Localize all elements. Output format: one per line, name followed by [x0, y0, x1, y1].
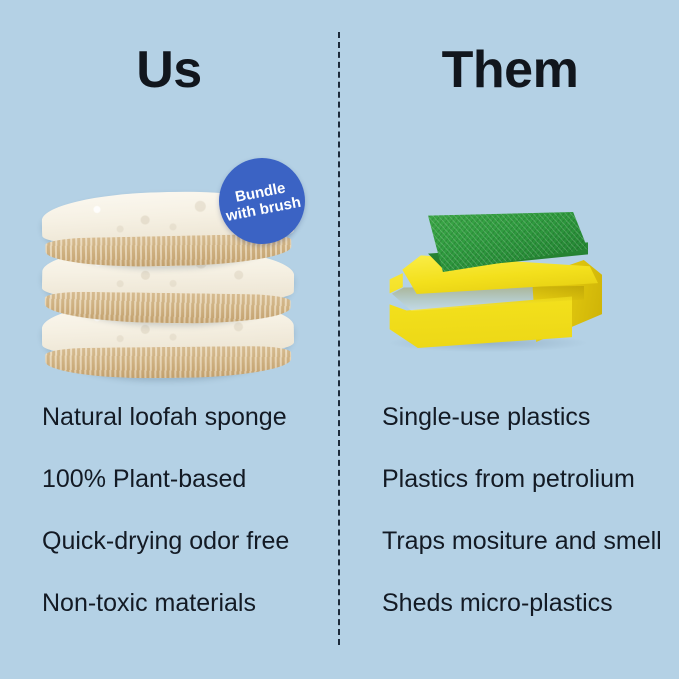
column-heading-us: Us: [0, 44, 338, 96]
plastic-sponge-image: [384, 212, 602, 348]
feature-item: Plastics from petrolium: [382, 464, 679, 526]
feature-item: Sheds micro-plastics: [382, 588, 679, 650]
bundle-with-brush-badge: Bundle with brush: [219, 158, 305, 244]
feature-item: Natural loofah sponge: [42, 402, 352, 464]
column-heading-them: Them: [341, 44, 679, 96]
feature-item: Quick-drying odor free: [42, 526, 352, 588]
bundle-badge-label: Bundle with brush: [222, 177, 303, 225]
feature-item: Traps mositure and smell: [382, 526, 679, 588]
feature-list-us: Natural loofah sponge 100% Plant-based Q…: [42, 402, 352, 650]
loofah-fibre-layer: [45, 346, 292, 380]
feature-list-them: Single-use plastics Plastics from petrol…: [382, 402, 679, 650]
feature-item: Single-use plastics: [382, 402, 679, 464]
comparison-infographic: Us Them Bundle with brush Natural loofa: [0, 0, 679, 679]
feature-item: 100% Plant-based: [42, 464, 352, 526]
feature-item: Non-toxic materials: [42, 588, 352, 650]
